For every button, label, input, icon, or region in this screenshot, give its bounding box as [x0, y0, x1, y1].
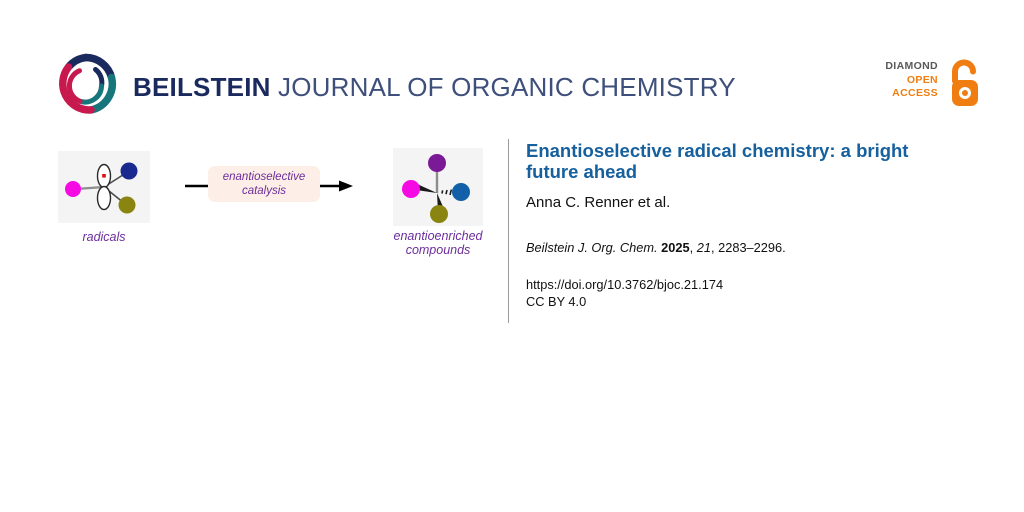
- open-padlock-icon: [944, 59, 984, 109]
- oa-diamond-text: DIAMOND: [885, 60, 938, 74]
- article-citation: Beilstein J. Org. Chem. 2025, 21, 2283–2…: [526, 212, 996, 256]
- blue-substituent: [452, 183, 470, 201]
- article-doi-block: https://doi.org/10.3762/bjoc.21.174 CC B…: [526, 256, 996, 310]
- product-caption-line2: compounds: [380, 243, 496, 257]
- citation-pages: 2283–2296.: [718, 240, 786, 255]
- magenta-substituent: [65, 181, 81, 197]
- navy-substituent: [121, 163, 138, 180]
- citation-year: 2025: [661, 240, 689, 255]
- open-access-label: DIAMOND OPEN ACCESS: [885, 60, 938, 101]
- reactant-caption: radicals: [58, 230, 150, 244]
- journal-wordmark: BEILSTEIN JOURNAL OF ORGANIC CHEMISTRY: [133, 72, 736, 102]
- article-title[interactable]: Enantioselective radical chemistry: a br…: [526, 140, 966, 182]
- wordmark-beilstein: BEILSTEIN: [133, 72, 271, 102]
- article-authors: Anna C. Renner et al.: [526, 182, 996, 212]
- citation-volume: 21: [697, 240, 711, 255]
- catalysis-label-line2: catalysis: [208, 185, 320, 199]
- vertical-divider: [508, 139, 509, 323]
- olive-substituent: [430, 205, 448, 223]
- product-caption-line1: enantioenriched: [380, 229, 496, 243]
- catalysis-label-line1: enantioselective: [208, 171, 320, 185]
- stereocenter-structure: [393, 148, 483, 226]
- citation-sep-2: ,: [690, 240, 697, 255]
- article-metadata: Enantioselective radical chemistry: a br…: [526, 140, 996, 310]
- diamond-open-access-badge: DIAMOND OPEN ACCESS: [866, 58, 984, 110]
- radical-structure-panel: [58, 151, 150, 223]
- citation-journal: Beilstein J. Org. Chem.: [526, 240, 658, 255]
- oa-open-text: OPEN: [885, 74, 938, 88]
- product-structure-panel: [393, 148, 483, 226]
- product-caption: enantioenriched compounds: [380, 229, 496, 257]
- article-preview-card: BEILSTEIN JOURNAL OF ORGANIC CHEMISTRY D…: [0, 0, 1024, 512]
- purple-substituent: [428, 154, 446, 172]
- oa-access-text: ACCESS: [885, 87, 938, 101]
- catalysis-label: enantioselective catalysis: [208, 171, 320, 198]
- beilstein-circle-logo: [55, 53, 117, 115]
- article-license[interactable]: CC BY 4.0: [526, 294, 586, 309]
- journal-masthead: BEILSTEIN JOURNAL OF ORGANIC CHEMISTRY D…: [0, 0, 1024, 140]
- radical-p-orbital-structure: [58, 151, 150, 223]
- article-doi-link[interactable]: https://doi.org/10.3762/bjoc.21.174: [526, 277, 723, 292]
- olive-substituent: [119, 197, 136, 214]
- wordmark-subtitle: JOURNAL OF ORGANIC CHEMISTRY: [271, 72, 736, 102]
- magenta-substituent: [402, 180, 420, 198]
